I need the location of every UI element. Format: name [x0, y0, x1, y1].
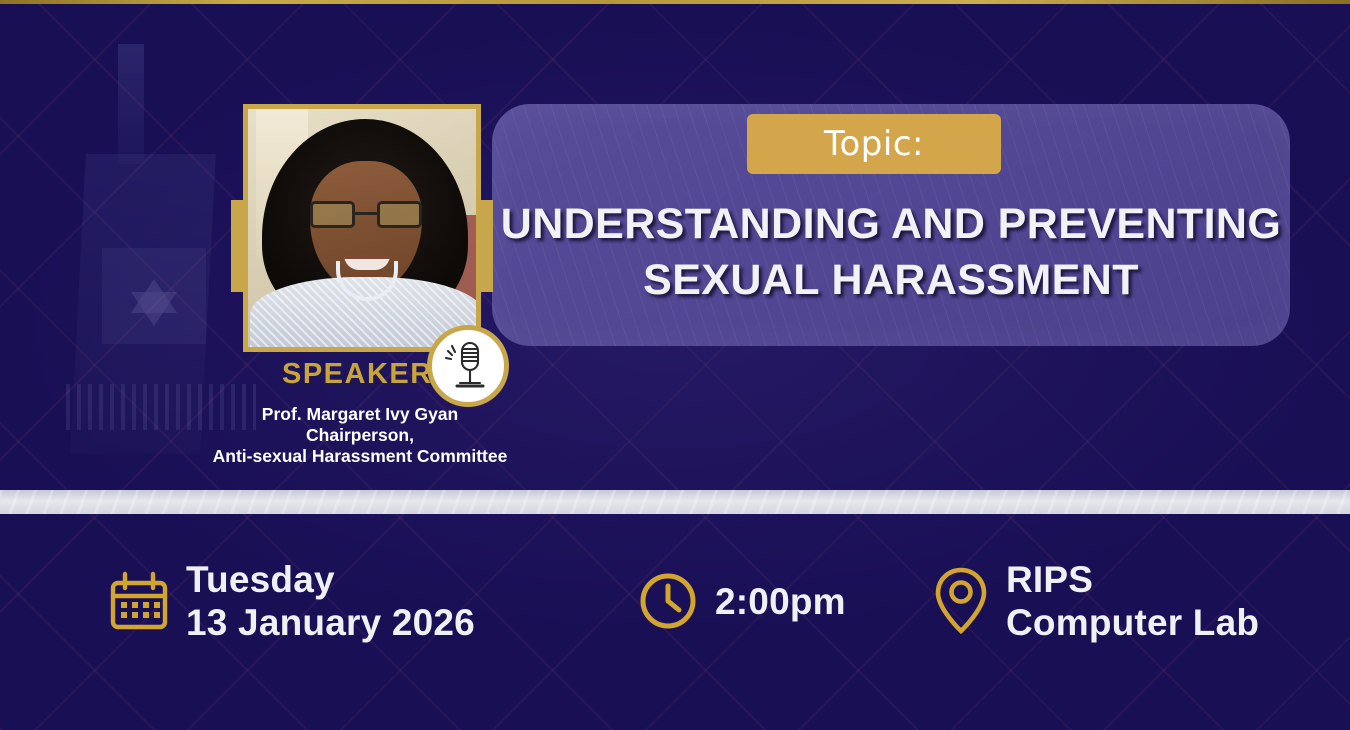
event-venue-line1: RIPS: [1006, 558, 1259, 601]
speaker-name: Prof. Margaret Ivy Gyan: [150, 404, 570, 425]
event-day-of-week: Tuesday: [186, 558, 475, 601]
topic-title-line1: UNDERSTANDING AND PREVENTING: [501, 200, 1281, 248]
event-venue-line2: Computer Lab: [1006, 601, 1259, 644]
speaker-photo: [243, 104, 481, 352]
event-details-bar: Tuesday 13 January 2026 2:00pm: [0, 514, 1350, 730]
topic-badge: Topic:: [747, 114, 1001, 174]
location-pin-icon: [932, 565, 990, 637]
topic-card: Topic: UNDERSTANDING AND PREVENTING SEXU…: [492, 104, 1290, 346]
event-date: Tuesday 13 January 2026: [108, 558, 475, 644]
event-venue-text: RIPS Computer Lab: [1006, 558, 1259, 644]
microphone-icon: [427, 325, 509, 407]
topic-title: UNDERSTANDING AND PREVENTING SEXUAL HARA…: [492, 196, 1290, 308]
speaker-details: Prof. Margaret Ivy Gyan Chairperson, Ant…: [150, 404, 570, 467]
portrait-glasses: [310, 201, 422, 229]
glasses-bridge: [355, 212, 377, 215]
event-venue: RIPS Computer Lab: [932, 558, 1259, 644]
frame-tab-left-icon: [231, 200, 245, 292]
topic-badge-label: Topic:: [824, 124, 924, 164]
speaker-photo-frame: [243, 104, 481, 352]
divider-sheen: [0, 490, 1350, 514]
event-date-text: Tuesday 13 January 2026: [186, 558, 475, 644]
clock-icon: [637, 570, 699, 632]
watermark-spire: [118, 44, 144, 164]
speaker-role: Chairperson,: [150, 425, 570, 446]
frame-tab-right-icon: [479, 200, 493, 292]
gold-top-strip: [0, 0, 1350, 4]
event-time: 2:00pm: [637, 570, 846, 632]
event-time-value: 2:00pm: [715, 580, 846, 623]
speaker-committee: Anti-sexual Harassment Committee: [150, 446, 570, 467]
speaker-label: SPEAKER: [282, 358, 433, 391]
event-flyer: Topic: UNDERSTANDING AND PREVENTING SEXU…: [0, 0, 1350, 730]
glasses-lens-left: [310, 201, 355, 228]
calendar-icon: [108, 570, 170, 632]
event-date-value: 13 January 2026: [186, 601, 475, 644]
star-emblem-icon: [131, 279, 177, 313]
topic-title-line2: SEXUAL HARASSMENT: [492, 252, 1290, 308]
silver-divider-band: [0, 490, 1350, 514]
glasses-lens-right: [377, 201, 422, 228]
watermark-star-panel: [102, 248, 206, 344]
